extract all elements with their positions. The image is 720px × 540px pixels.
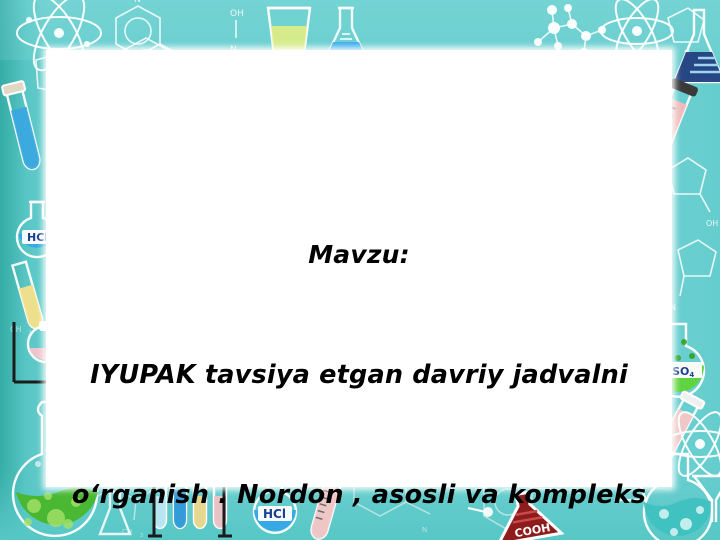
svg-text:3: 3 — [28, 330, 32, 337]
test-tube-blue-left — [2, 82, 46, 178]
svg-text:OH: OH — [230, 9, 244, 19]
hcl-label-left: HCl — [27, 231, 48, 244]
svg-text:OH: OH — [706, 219, 718, 228]
title-line-1: Mavzu: — [46, 235, 672, 275]
title-line-3: o‘rganish . Nordon , asosli va kompleks — [46, 475, 672, 515]
svg-text:N: N — [134, 0, 141, 5]
test-tube-yellow-left — [10, 258, 50, 338]
title-line-2: IYUPAK tavsiya etgan davriy jadvalni — [46, 355, 672, 395]
molecule-ch3-left: CH 3 — [8, 318, 48, 342]
slide-title: Mavzu: IYUPAK tavsiya etgan davriy jadva… — [46, 155, 672, 540]
flask-navy-top-right — [672, 8, 720, 88]
background-left-gradient — [0, 0, 48, 540]
svg-text:N: N — [684, 49, 690, 58]
slide-canvas: N CH 3 N N OH N — [0, 0, 720, 540]
svg-text:CH: CH — [10, 325, 22, 334]
molecule-network-top — [528, 2, 608, 54]
funnel-bottom-right — [690, 470, 720, 526]
molecule-faint-right: N — [668, 236, 720, 316]
